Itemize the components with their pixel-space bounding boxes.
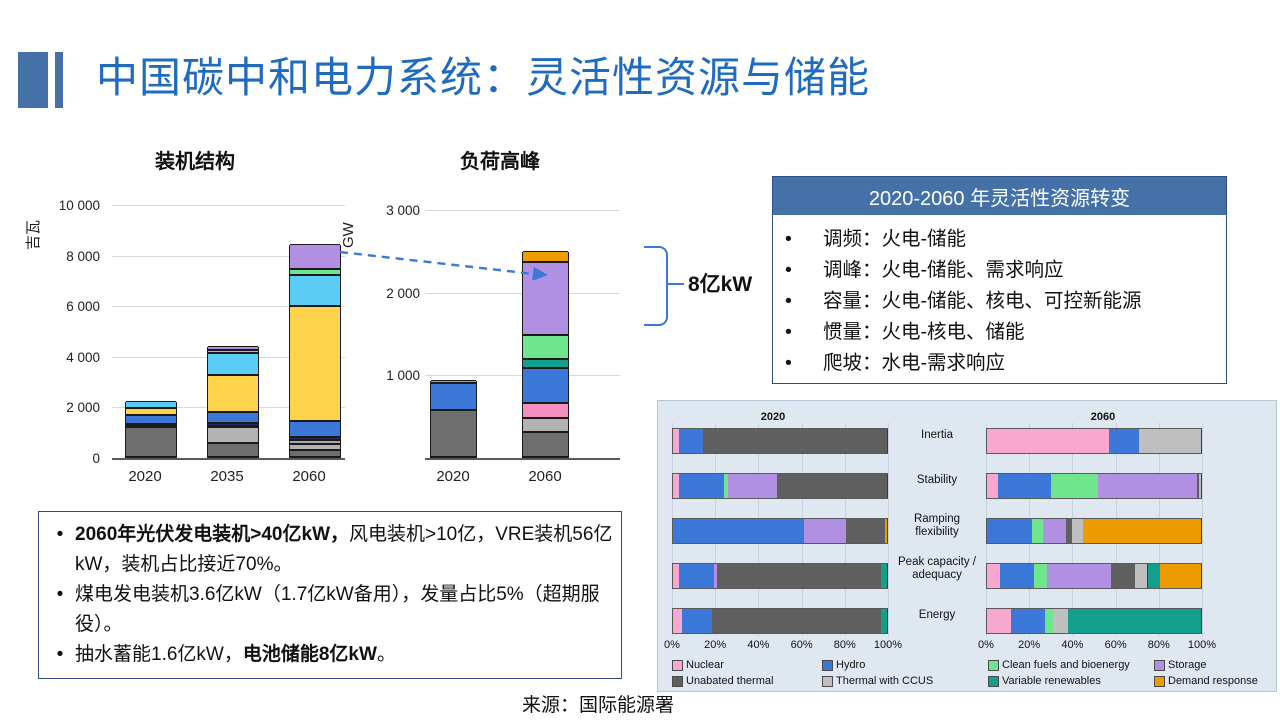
iea-xtick: 80% bbox=[1137, 639, 1181, 651]
iea-bar-segment bbox=[777, 474, 888, 498]
list-item: •爬坡：水电-需求响应 bbox=[785, 348, 1220, 379]
iea-xtick: 60% bbox=[1094, 639, 1138, 651]
iea-bar-segment bbox=[1043, 519, 1068, 543]
legend-label: Variable renewables bbox=[1002, 675, 1101, 687]
iea-bar-segment bbox=[885, 519, 888, 543]
body-text: 煤电发电装机3.6亿kW（1.7亿kW备用），发量占比5%（超期服役）。 bbox=[75, 584, 600, 635]
list-item-label: 惯量：火电-核电、储能 bbox=[815, 317, 1025, 348]
title-accent-bar bbox=[55, 52, 63, 108]
iea-flexibility-panel: 2020 2060 0%20%40%60%80%100%0%20%40%60%8… bbox=[657, 400, 1277, 692]
list-item-label: 2060年光伏发电装机>40亿kW，风电装机>10亿，VRE装机56亿kW，装机… bbox=[73, 520, 615, 580]
iea-bar-segment bbox=[804, 519, 848, 543]
iea-bar bbox=[986, 518, 1202, 544]
storage-bracket-stem bbox=[666, 283, 684, 285]
iea-bar-segment bbox=[1053, 609, 1069, 633]
iea-xtick: 40% bbox=[1050, 639, 1094, 651]
iea-gridline bbox=[1202, 423, 1203, 636]
chart1-ytick: 6 000 bbox=[20, 299, 100, 314]
chart1-xtick: 2035 bbox=[187, 468, 267, 485]
bar-segment bbox=[290, 450, 340, 457]
legend-label: Storage bbox=[1168, 659, 1207, 671]
list-item: •抽水蓄能1.6亿kW，电池储能8亿kW。 bbox=[47, 640, 615, 670]
bar-2060-peak bbox=[522, 252, 569, 458]
iea-bar-segment bbox=[679, 474, 725, 498]
bar-segment bbox=[290, 444, 340, 450]
iea-xtick: 40% bbox=[736, 639, 780, 651]
list-item-label: 调频：火电-储能 bbox=[815, 224, 966, 255]
bar-segment bbox=[208, 350, 258, 352]
chart2-xtick: 2060 bbox=[505, 468, 585, 485]
list-item-label: 容量：火电-储能、核电、可控新能源 bbox=[815, 286, 1142, 317]
iea-panel-title-2020: 2020 bbox=[658, 411, 888, 423]
emphasis-text: 电池储能8亿kW bbox=[243, 644, 377, 665]
bar-2020-peak bbox=[430, 381, 477, 458]
iea-legend-item: Clean fuels and bioenergy bbox=[988, 659, 1130, 671]
iea-xtick: 20% bbox=[1007, 639, 1051, 651]
iea-xtick: 0% bbox=[964, 639, 1008, 651]
storage-annotation: 8亿kW bbox=[688, 268, 752, 298]
iea-bar bbox=[986, 428, 1202, 454]
iea-bar-segment bbox=[1047, 564, 1112, 588]
list-item: •调峰：火电-储能、需求响应 bbox=[785, 255, 1220, 286]
flexibility-transition-box: 2020-2060 年灵活性资源转变 •调频：火电-储能 •调峰：火电-储能、需… bbox=[772, 176, 1227, 384]
iea-bar-segment bbox=[987, 609, 1012, 633]
list-item: •2060年光伏发电装机>40亿kW，风电装机>10亿，VRE装机56亿kW，装… bbox=[47, 520, 615, 580]
iea-xtick: 20% bbox=[693, 639, 737, 651]
bar-segment bbox=[431, 410, 476, 457]
iea-bar-segment bbox=[1148, 564, 1162, 588]
bar-segment bbox=[126, 425, 176, 427]
iea-bar-segment bbox=[987, 519, 1033, 543]
bar-segment bbox=[208, 427, 258, 443]
body-text: 。 bbox=[377, 644, 396, 665]
iea-xtick: 100% bbox=[866, 639, 910, 651]
list-item-label: 调峰：火电-储能、需求响应 bbox=[815, 255, 1064, 286]
bar-segment bbox=[208, 412, 258, 423]
source-caption: 来源：国际能源署 bbox=[522, 690, 674, 717]
iea-legend-item: Demand response bbox=[1154, 675, 1258, 687]
bar-segment bbox=[290, 244, 340, 269]
list-item: •惯量：火电-核电、储能 bbox=[785, 317, 1220, 348]
bar-segment bbox=[431, 383, 476, 410]
page-title: 中国碳中和电力系统：灵活性资源与储能 bbox=[96, 48, 870, 108]
bar-segment bbox=[208, 346, 258, 350]
iea-bar-segment bbox=[1109, 429, 1140, 453]
iea-legend-item: Nuclear bbox=[672, 659, 724, 671]
chart1-ytick: 2 000 bbox=[20, 400, 100, 415]
bar-segment bbox=[208, 443, 258, 457]
list-item: •调频：火电-储能 bbox=[785, 224, 1220, 255]
iea-row-label: Peak capacity / adequacy bbox=[894, 556, 980, 582]
iea-bar-segment bbox=[682, 609, 713, 633]
iea-bar-segment bbox=[1011, 609, 1046, 633]
iea-bar-segment bbox=[1051, 474, 1099, 498]
chart2-xtick: 2020 bbox=[413, 468, 493, 485]
bullet-marker: • bbox=[785, 286, 815, 317]
bar-2020-capacity bbox=[125, 402, 177, 458]
chart1-ytick: 0 bbox=[20, 451, 100, 466]
chart2-ytick: 1 000 bbox=[370, 368, 420, 383]
iea-bar bbox=[672, 473, 888, 499]
iea-legend-item: Hydro bbox=[822, 659, 865, 671]
bullet-marker: • bbox=[785, 317, 815, 348]
storage-bracket bbox=[644, 246, 668, 326]
iea-bar-segment bbox=[679, 564, 714, 588]
iea-bar bbox=[672, 563, 888, 589]
bar-segment bbox=[523, 418, 568, 432]
iea-bar-segment bbox=[728, 474, 778, 498]
bullet-marker: • bbox=[47, 520, 73, 580]
iea-legend-item: Thermal with CCUS bbox=[822, 675, 933, 687]
key-findings-box: •2060年光伏发电装机>40亿kW，风电装机>10亿，VRE装机56亿kW，装… bbox=[38, 511, 622, 679]
iea-bar bbox=[672, 608, 888, 634]
iea-bar-segment bbox=[1160, 564, 1202, 588]
legend-label: Demand response bbox=[1168, 675, 1258, 687]
chart1-title: 装机结构 bbox=[155, 145, 235, 174]
iea-bar bbox=[672, 518, 888, 544]
legend-label: Nuclear bbox=[686, 659, 724, 671]
bar-segment bbox=[126, 415, 176, 424]
chart1-ylabel: 吉瓦 bbox=[22, 220, 43, 250]
iea-bar-segment bbox=[703, 429, 888, 453]
bar-segment bbox=[126, 427, 176, 457]
legend-label: Thermal with CCUS bbox=[836, 675, 933, 687]
legend-label: Unabated thermal bbox=[686, 675, 773, 687]
list-item-label: 爬坡：水电-需求响应 bbox=[815, 348, 1005, 379]
bar-segment bbox=[126, 408, 176, 414]
chart2-gridline bbox=[425, 210, 620, 211]
iea-legend-item: Storage bbox=[1154, 659, 1207, 671]
iea-row-label: Inertia bbox=[894, 429, 980, 442]
iea-bar-segment bbox=[1098, 474, 1197, 498]
bar-segment bbox=[523, 368, 568, 404]
legend-swatch bbox=[672, 660, 683, 671]
iea-bar-segment bbox=[1034, 564, 1048, 588]
flexibility-box-header: 2020-2060 年灵活性资源转变 bbox=[773, 177, 1226, 215]
list-item: •煤电发电装机3.6亿kW（1.7亿kW备用），发量占比5%（超期服役）。 bbox=[47, 580, 615, 640]
body-text: 抽水蓄能1.6亿kW， bbox=[75, 644, 243, 665]
chart2-ytick: 2 000 bbox=[370, 286, 420, 301]
iea-bar-segment bbox=[1083, 519, 1202, 543]
bar-segment bbox=[431, 380, 476, 383]
iea-bar-segment bbox=[679, 429, 704, 453]
bar-segment bbox=[208, 353, 258, 376]
bar-2060-capacity bbox=[289, 245, 341, 458]
iea-bar-segment bbox=[987, 429, 1110, 453]
bullet-marker: • bbox=[785, 348, 815, 379]
legend-swatch bbox=[672, 676, 683, 687]
bar-segment bbox=[290, 437, 340, 440]
bullet-marker: • bbox=[47, 580, 73, 640]
iea-bar-segment bbox=[1135, 564, 1149, 588]
chart1-xtick: 2060 bbox=[269, 468, 349, 485]
bar-segment bbox=[523, 335, 568, 358]
legend-swatch bbox=[988, 660, 999, 671]
legend-swatch bbox=[1154, 660, 1165, 671]
bar-segment bbox=[290, 421, 340, 437]
chart2-ytick: 3 000 bbox=[370, 203, 420, 218]
iea-xtick: 60% bbox=[780, 639, 824, 651]
chart1-ytick: 4 000 bbox=[20, 350, 100, 365]
chart2-title: 负荷高峰 bbox=[460, 145, 540, 174]
iea-xtick: 0% bbox=[650, 639, 694, 651]
chart1-ytick: 8 000 bbox=[20, 249, 100, 264]
iea-bar-segment bbox=[846, 519, 886, 543]
bar-segment bbox=[208, 375, 258, 412]
iea-bar-segment bbox=[1000, 564, 1035, 588]
iea-legend-item: Variable renewables bbox=[988, 675, 1101, 687]
iea-row-label: Energy bbox=[894, 609, 980, 622]
iea-bar-segment bbox=[998, 474, 1053, 498]
legend-swatch bbox=[822, 676, 833, 687]
bar-segment bbox=[523, 432, 568, 457]
list-item-label: 抽水蓄能1.6亿kW，电池储能8亿kW。 bbox=[73, 640, 396, 670]
chart1-gridline bbox=[112, 205, 345, 206]
bar-segment bbox=[290, 275, 340, 306]
chart2-ylabel: GW bbox=[340, 222, 357, 248]
bullet-marker: • bbox=[47, 640, 73, 670]
legend-swatch bbox=[988, 676, 999, 687]
iea-bar-segment bbox=[673, 519, 805, 543]
chart2-x-axis bbox=[425, 458, 620, 460]
iea-bar-segment bbox=[712, 609, 882, 633]
iea-gridline bbox=[888, 423, 889, 636]
iea-bar-segment bbox=[1068, 609, 1202, 633]
iea-bar-segment bbox=[881, 564, 888, 588]
bar-segment bbox=[290, 269, 340, 275]
iea-bar-segment bbox=[1199, 474, 1202, 498]
title-accent-block bbox=[18, 52, 48, 108]
iea-panel-title-2060: 2060 bbox=[988, 411, 1218, 423]
transition-arrow-icon bbox=[338, 248, 553, 280]
iea-bar-segment bbox=[1111, 564, 1136, 588]
legend-swatch bbox=[1154, 676, 1165, 687]
iea-row-label: Ramping flexibility bbox=[894, 513, 980, 539]
iea-bar bbox=[986, 563, 1202, 589]
bar-segment bbox=[208, 423, 258, 426]
legend-swatch bbox=[822, 660, 833, 671]
bar-2035-capacity bbox=[207, 347, 259, 458]
iea-bar bbox=[672, 428, 888, 454]
iea-legend-item: Unabated thermal bbox=[672, 675, 773, 687]
chart1-xtick: 2020 bbox=[105, 468, 185, 485]
bar-segment bbox=[126, 401, 176, 408]
chart1-ytick: 10 000 bbox=[20, 198, 100, 213]
legend-label: Hydro bbox=[836, 659, 865, 671]
iea-xtick: 100% bbox=[1180, 639, 1224, 651]
emphasis-text: 2060年光伏发电装机>40亿kW， bbox=[75, 524, 349, 545]
bar-segment bbox=[290, 440, 340, 445]
iea-xtick: 80% bbox=[823, 639, 867, 651]
legend-label: Clean fuels and bioenergy bbox=[1002, 659, 1130, 671]
flexibility-box-body: •调频：火电-储能 •调峰：火电-储能、需求响应 •容量：火电-储能、核电、可控… bbox=[773, 215, 1226, 383]
iea-bar-segment bbox=[881, 609, 888, 633]
iea-bar bbox=[986, 608, 1202, 634]
list-item: •容量：火电-储能、核电、可控新能源 bbox=[785, 286, 1220, 317]
chart1-x-axis bbox=[112, 458, 345, 460]
bullet-marker: • bbox=[785, 224, 815, 255]
bar-segment bbox=[523, 359, 568, 368]
iea-bar-segment bbox=[717, 564, 882, 588]
bullet-marker: • bbox=[785, 255, 815, 286]
iea-bar-segment bbox=[987, 564, 1001, 588]
iea-bar bbox=[986, 473, 1202, 499]
bar-segment bbox=[523, 403, 568, 418]
list-item-label: 煤电发电装机3.6亿kW（1.7亿kW备用），发量占比5%（超期服役）。 bbox=[73, 580, 615, 640]
iea-row-label: Stability bbox=[894, 474, 980, 487]
iea-bar-segment bbox=[1139, 429, 1202, 453]
bar-segment bbox=[290, 306, 340, 421]
